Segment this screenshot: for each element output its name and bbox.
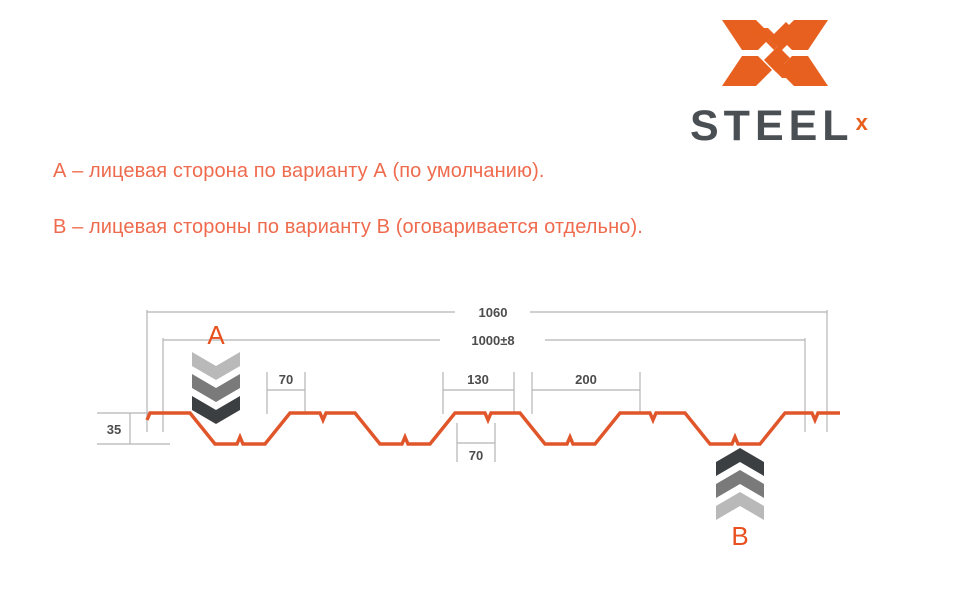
sheet-profile-line (147, 413, 840, 444)
marker-variant-a: A (192, 320, 240, 424)
steelx-logo: STEELx (690, 14, 940, 144)
dimension-valley-width: 70 (469, 448, 483, 463)
dimension-flank-span: 130 (467, 372, 489, 387)
caption-variant-b: В – лицевая стороны по варианту В (огова… (53, 216, 643, 239)
wordmark-superscript: x (856, 112, 868, 134)
dimension-working-width: 1000±8 (471, 333, 514, 348)
chevron-down-icon (192, 352, 240, 424)
caption-variant-a: А – лицевая сторона по варианту А (по ум… (53, 160, 545, 183)
marker-b-label: B (731, 521, 748, 551)
dimension-profile-height: 35 (107, 422, 121, 437)
steelx-wordmark: STEELx (690, 106, 940, 148)
dimension-overall-width: 1060 (479, 305, 508, 320)
dimension-crest-width: 70 (279, 372, 293, 387)
profile-technical-drawing: 1060 1000±8 70 130 200 70 35 A (0, 280, 970, 570)
page-canvas: STEELx А – лицевая сторона по варианту А… (0, 0, 970, 597)
wordmark-text: STEEL (690, 105, 854, 148)
chevron-up-icon (716, 448, 764, 520)
marker-a-label: A (207, 320, 225, 350)
marker-variant-b: B (716, 448, 764, 551)
dimension-rib-pitch: 200 (575, 372, 597, 387)
steelx-x-mark-icon (720, 14, 830, 92)
